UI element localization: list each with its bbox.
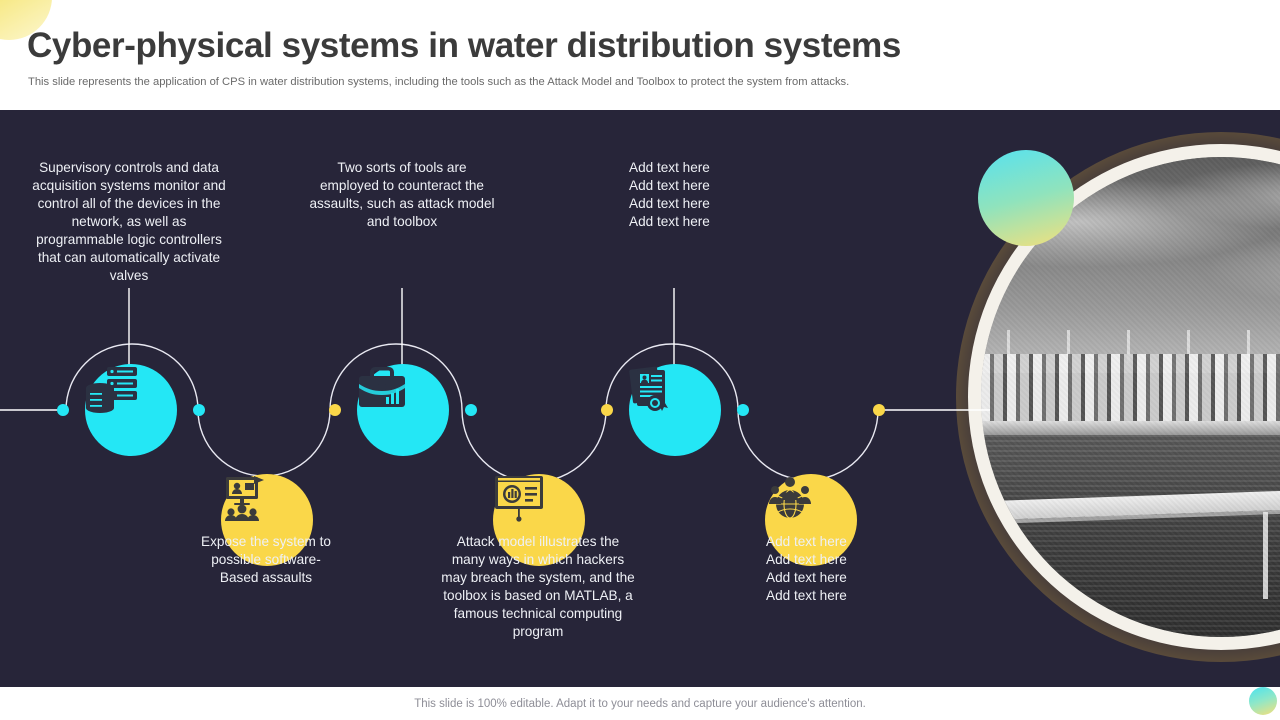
photo-accent-gradient-dot [978, 150, 1074, 246]
callout-placeholder-top: Add text here Add text here Add text her… [629, 159, 789, 231]
timeline-node-3[interactable] [357, 364, 449, 456]
callout-scada: Supervisory controls and data acquisitio… [28, 159, 230, 285]
connector-dot-3 [329, 404, 341, 416]
callout-tools: Two sorts of tools are employed to count… [308, 159, 496, 231]
slide-footer: This slide is 100% editable. Adapt it to… [0, 687, 1280, 720]
timeline-node-5[interactable] [629, 364, 721, 456]
connector-dot-1 [57, 404, 69, 416]
presentation-board-chart-icon [493, 474, 545, 522]
database-server-icon [85, 364, 139, 416]
page-subtitle: This slide represents the application of… [28, 76, 849, 88]
slide-body: Supervisory controls and data acquisitio… [0, 110, 1280, 687]
connector-dot-7 [873, 404, 885, 416]
connector-dot-2 [193, 404, 205, 416]
callout-placeholder-bottom: Add text here Add text here Add text her… [766, 533, 926, 605]
page-title: Cyber-physical systems in water distribu… [27, 26, 901, 66]
connector-dot-5 [601, 404, 613, 416]
slide-header: Cyber-physical systems in water distribu… [0, 0, 1280, 110]
callout-software-assaults: Expose the system to possible software- … [182, 533, 350, 587]
briefcase-chart-icon [357, 364, 407, 410]
corner-decoration-bottom-right [1249, 687, 1277, 715]
footer-note: This slide is 100% editable. Adapt it to… [414, 698, 866, 710]
presentation-people-icon [221, 474, 271, 522]
callout-attack-model: Attack model illustrates the many ways i… [440, 533, 636, 641]
people-globe-icon [765, 474, 815, 520]
certificate-document-icon [629, 364, 677, 414]
timeline-node-1[interactable] [85, 364, 177, 456]
connector-dot-4 [465, 404, 477, 416]
connector-dot-6 [737, 404, 749, 416]
